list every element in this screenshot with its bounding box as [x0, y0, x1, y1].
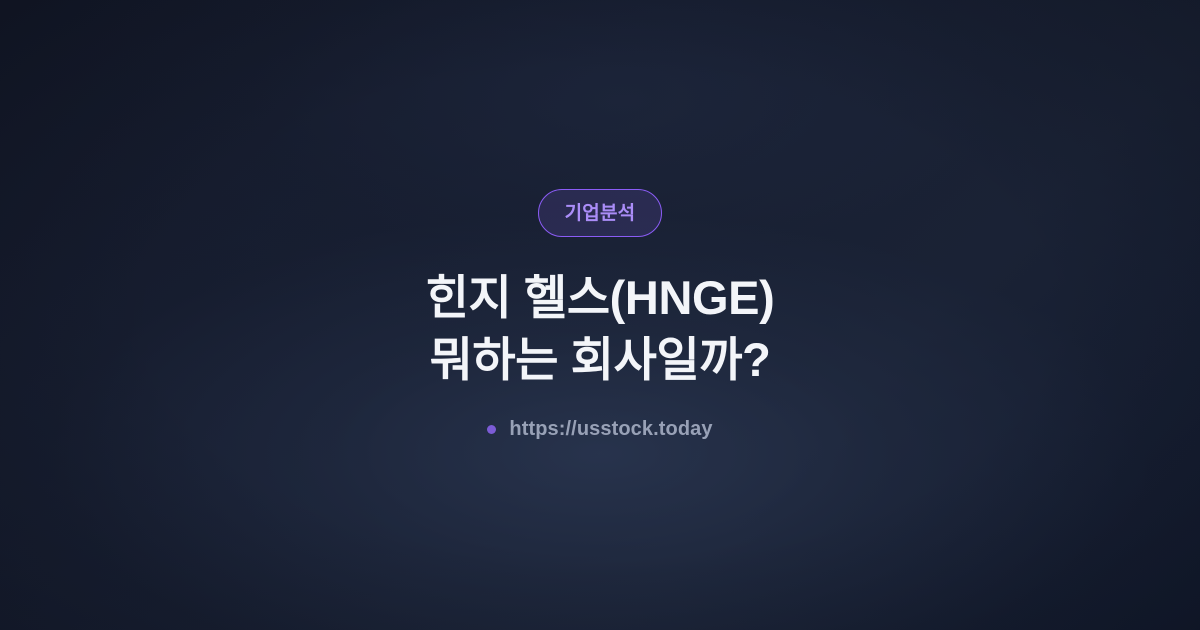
site-url-row: https://usstock.today	[487, 418, 712, 441]
site-url-label: https://usstock.today	[509, 418, 712, 441]
card-content: 기업분석 힌지 헬스(HNGE) 뭐하는 회사일까? https://ussto…	[0, 0, 1200, 630]
page-title-line-1: 힌지 헬스(HNGE)	[426, 267, 775, 328]
bullet-dot-icon	[487, 425, 496, 434]
page-title-line-2: 뭐하는 회사일까?	[426, 329, 775, 390]
page-title: 힌지 헬스(HNGE) 뭐하는 회사일까?	[426, 267, 775, 389]
category-badge: 기업분석	[538, 189, 663, 237]
og-share-card: 기업분석 힌지 헬스(HNGE) 뭐하는 회사일까? https://ussto…	[0, 0, 1200, 630]
